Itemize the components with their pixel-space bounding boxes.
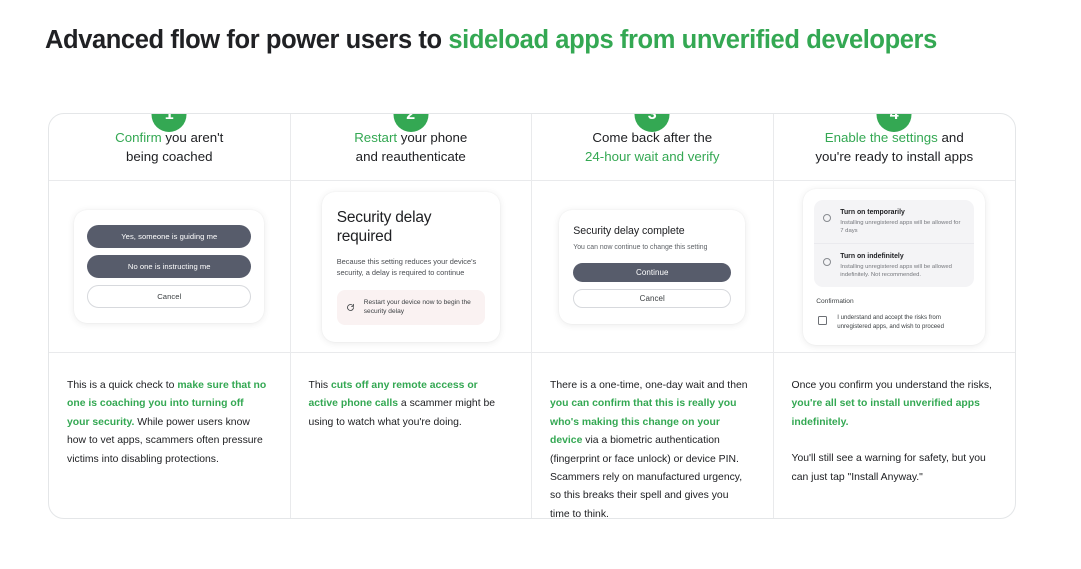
settings-options-mockup: Turn on temporarily Installing unregiste… — [803, 189, 985, 345]
body-4-seg-3: You'll still see a warning for safety, b… — [792, 453, 986, 482]
radio-unchecked-icon[interactable] — [823, 214, 831, 222]
option-turn-on-temporarily[interactable]: Turn on temporarily Installing unregiste… — [814, 200, 974, 243]
step-heading-1-line2: being coached — [126, 149, 213, 164]
radio-unchecked-icon[interactable] — [823, 258, 831, 266]
step-heading-4-accent: Enable the settings — [825, 130, 938, 145]
step-body-text-3: There is a one-time, one-day wait and th… — [550, 377, 751, 518]
step-heading-3-line2-accent: 24-hour wait and verify — [585, 149, 720, 164]
restart-notice-text: Restart your device now to begin the sec… — [364, 298, 476, 317]
body-4-paragraph-gap — [792, 432, 994, 450]
page-title: Advanced flow for power users to sideloa… — [45, 26, 937, 55]
step-header-4: 4 Enable the settings and you're ready t… — [774, 114, 1016, 181]
option-temporarily-text: Turn on temporarily Installing unregiste… — [840, 208, 964, 235]
security-delay-required-mockup: Security delay required Because this set… — [322, 192, 500, 342]
steps-table: 1 Confirm you aren't being coached 2 Res… — [48, 113, 1016, 519]
reload-icon — [346, 303, 355, 312]
continue-button[interactable]: Continue — [573, 263, 731, 282]
confirmation-label: Confirmation — [816, 298, 974, 305]
step-body-3: There is a one-time, one-day wait and th… — [532, 353, 774, 518]
dialog-button-cancel[interactable]: Cancel — [87, 285, 251, 308]
option-turn-on-indefinitely[interactable]: Turn on indefinitely Installing unregist… — [814, 243, 974, 287]
step-heading-3: Come back after the 24-hour wait and ver… — [585, 128, 720, 166]
step-body-2: This cuts off any remote access or activ… — [291, 353, 533, 518]
cancel-button[interactable]: Cancel — [573, 289, 731, 308]
body-3-seg-0: There is a one-time, one-day wait and th… — [550, 380, 748, 391]
step-heading-4-plain: and — [938, 130, 964, 145]
step-body-1: This is a quick check to make sure that … — [49, 353, 291, 518]
option-indefinitely-text: Turn on indefinitely Installing unregist… — [840, 252, 964, 279]
body-2-seg-0: This — [309, 380, 332, 391]
step-heading-2-plain: your phone — [397, 130, 467, 145]
confirmation-text: I understand and accept the risks from u… — [837, 314, 974, 331]
step-header-1: 1 Confirm you aren't being coached — [49, 114, 291, 181]
step-body-text-1: This is a quick check to make sure that … — [67, 377, 268, 469]
delay-complete-title: Security delay complete — [573, 225, 731, 237]
delay-complete-description: You can now continue to change this sett… — [573, 244, 731, 251]
option-indefinitely-desc: Installing unregistered apps will be all… — [840, 263, 964, 279]
restart-notice[interactable]: Restart your device now to begin the sec… — [337, 290, 485, 325]
step-heading-1-plain: you aren't — [162, 130, 224, 145]
checkbox-unchecked-icon[interactable] — [818, 316, 827, 325]
security-delay-complete-mockup: Security delay complete You can now cont… — [559, 210, 745, 324]
step-body-4: Once you confirm you understand the risk… — [774, 353, 1016, 518]
body-1-seg-0: This is a quick check to — [67, 380, 177, 391]
dialog-button-yes-guiding[interactable]: Yes, someone is guiding me — [87, 225, 251, 248]
dialog-button-no-instructing[interactable]: No one is instructing me — [87, 255, 251, 278]
body-4-seg-0: Once you confirm you understand the risk… — [792, 380, 992, 391]
body-3-seg-2: via a biometric authentication (fingerpr… — [550, 435, 742, 518]
step-body-text-2: This cuts off any remote access or activ… — [309, 377, 510, 432]
delay-required-title: Security delay required — [337, 208, 485, 247]
step-mockup-cell-4: Turn on temporarily Installing unregiste… — [774, 181, 1016, 353]
step-heading-1: Confirm you aren't being coached — [115, 128, 223, 166]
radio-option-group: Turn on temporarily Installing unregiste… — [814, 200, 974, 288]
confirmation-row[interactable]: I understand and accept the risks from u… — [814, 314, 974, 331]
step-header-3: 3 Come back after the 24-hour wait and v… — [532, 114, 774, 181]
step-heading-2-line2: and reauthenticate — [356, 149, 466, 164]
step-heading-3-line1: Come back after the — [592, 130, 712, 145]
step-mockup-cell-2: Security delay required Because this set… — [291, 181, 533, 353]
choice-dialog-mockup: Yes, someone is guiding me No one is ins… — [74, 210, 264, 323]
step-mockup-cell-3: Security delay complete You can now cont… — [532, 181, 774, 353]
infographic-page: Advanced flow for power users to sideloa… — [0, 0, 1081, 569]
delay-required-title-line2: required — [337, 228, 392, 245]
step-heading-2-accent: Restart — [354, 130, 397, 145]
step-heading-4: Enable the settings and you're ready to … — [815, 128, 973, 166]
step-mockup-cell-1: Yes, someone is guiding me No one is ins… — [49, 181, 291, 353]
step-heading-1-accent: Confirm — [115, 130, 162, 145]
page-title-plain: Advanced flow for power users to — [45, 26, 448, 54]
page-title-accent: sideload apps from unverified developers — [448, 26, 936, 54]
step-header-2: 2 Restart your phone and reauthenticate — [291, 114, 533, 181]
step-heading-4-line2: you're ready to install apps — [815, 149, 973, 164]
option-indefinitely-title: Turn on indefinitely — [840, 252, 964, 261]
steps-grid: 1 Confirm you aren't being coached 2 Res… — [49, 114, 1015, 518]
option-temporarily-desc: Installing unregistered apps will be all… — [840, 219, 964, 235]
step-body-text-4: Once you confirm you understand the risk… — [792, 377, 994, 487]
body-4-seg-1: you're all set to install unverified app… — [792, 398, 980, 427]
step-heading-2: Restart your phone and reauthenticate — [354, 128, 467, 166]
delay-complete-buttons: Continue Cancel — [573, 263, 731, 308]
option-temporarily-title: Turn on temporarily — [840, 208, 964, 217]
delay-required-description: Because this setting reduces your device… — [337, 256, 485, 279]
delay-required-title-line1: Security delay — [337, 209, 432, 226]
